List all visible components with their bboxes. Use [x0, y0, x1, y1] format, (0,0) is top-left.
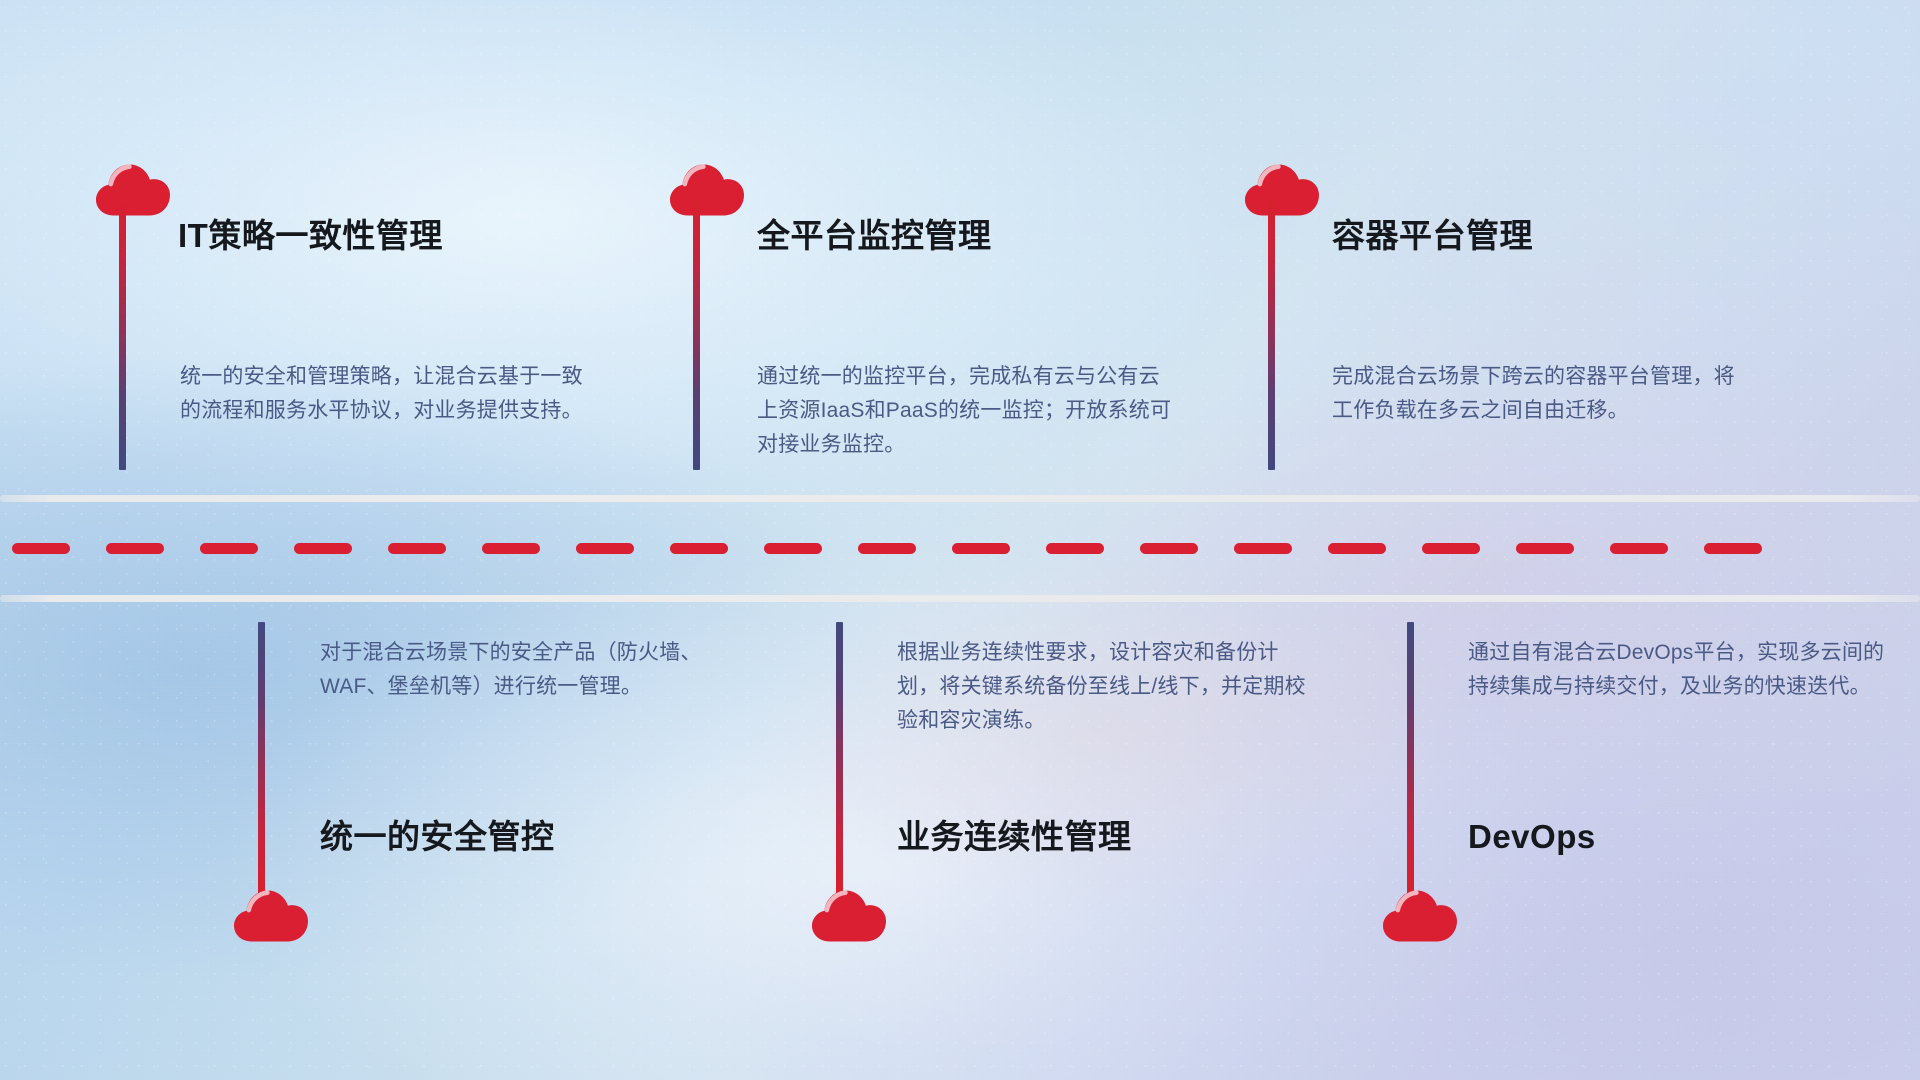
column-title: 全平台监控管理 [757, 219, 992, 252]
divider-dash [294, 543, 352, 554]
column-stem [1268, 200, 1275, 470]
column-body: 统一的安全和管理策略，让混合云基于一致的流程和服务水平协议，对业务提供支持。 [180, 360, 600, 428]
cloud-icon [1381, 886, 1459, 944]
divider-dash [388, 543, 446, 554]
divider-dash [1234, 543, 1292, 554]
divider-dash [200, 543, 258, 554]
divider-dash [858, 543, 916, 554]
column-title: 业务连续性管理 [897, 820, 1132, 853]
divider-dash [764, 543, 822, 554]
column-stem [258, 622, 265, 894]
cloud-icon [810, 886, 888, 944]
column-title: 统一的安全管控 [320, 820, 555, 853]
column-body: 通过自有混合云DevOps平台，实现多云间的持续集成与持续交付，及业务的快速迭代… [1468, 636, 1888, 704]
divider-dash [106, 543, 164, 554]
column-stem [836, 622, 843, 894]
divider-dashed-centerline [0, 542, 1920, 554]
divider-dash [1704, 543, 1762, 554]
column-body: 通过统一的监控平台，完成私有云与公有云上资源IaaS和PaaS的统一监控；开放系… [757, 360, 1177, 462]
divider-line-bottom [0, 595, 1920, 602]
divider-dash [482, 543, 540, 554]
divider-dash [1328, 543, 1386, 554]
cloud-icon [94, 160, 172, 218]
column-body: 根据业务连续性要求，设计容灾和备份计划，将关键系统备份至线上/线下，并定期校验和… [897, 636, 1317, 738]
divider-dash [670, 543, 728, 554]
divider-dash [12, 543, 70, 554]
column-body: 对于混合云场景下的安全产品（防火墙、WAF、堡垒机等）进行统一管理。 [320, 636, 740, 704]
column-title: DevOps [1468, 820, 1596, 853]
divider-dash [1140, 543, 1198, 554]
column-stem [1407, 622, 1414, 894]
cloud-icon [232, 886, 310, 944]
divider-dash [1422, 543, 1480, 554]
infographic-canvas: IT策略一致性管理 统一的安全和管理策略，让混合云基于一致的流程和服务水平协议，… [0, 0, 1920, 1080]
divider-line-top [0, 495, 1920, 502]
divider-dash [1046, 543, 1104, 554]
divider-dash [1610, 543, 1668, 554]
divider-dash [952, 543, 1010, 554]
cloud-icon [1243, 160, 1321, 218]
cloud-icon [668, 160, 746, 218]
column-stem [119, 200, 126, 470]
column-body: 完成混合云场景下跨云的容器平台管理，将工作负载在多云之间自由迁移。 [1332, 360, 1752, 428]
column-title: 容器平台管理 [1332, 219, 1533, 252]
divider-dash [1516, 543, 1574, 554]
divider-dash [576, 543, 634, 554]
column-title: IT策略一致性管理 [178, 219, 443, 252]
column-stem [693, 200, 700, 470]
